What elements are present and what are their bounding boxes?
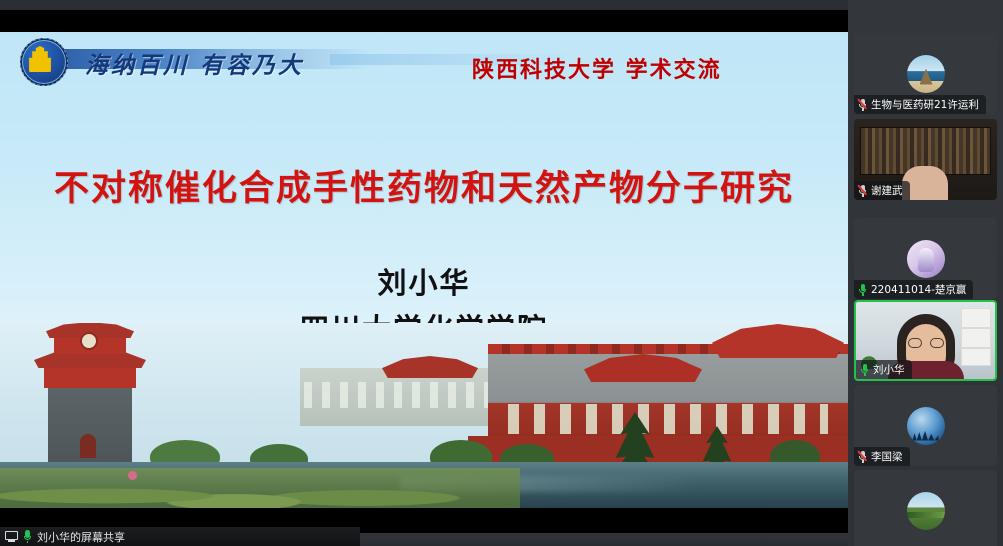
slide-main-title: 不对称催化合成手性药物和天然产物分子研究 [0, 160, 848, 211]
slide-header-band: 海纳百川 有容乃大 陕西科技大学 学术交流 [0, 32, 848, 94]
participant-tile[interactable]: 220411014-楚京赢 [854, 218, 997, 299]
mic-on-icon [861, 364, 869, 376]
participant-nametag: 刘小华 [856, 360, 912, 379]
participant-nametag: 谢建武 [854, 181, 910, 200]
participant-name: 刘小华 [873, 362, 905, 377]
participant-nametag: 李国梁 [854, 447, 910, 466]
mic-muted-icon [859, 451, 867, 463]
event-title: 陕西科技大学 学术交流 [472, 52, 722, 84]
share-top-letterbox [0, 10, 848, 32]
participant-name: 生物与医药研21许运利 [871, 97, 979, 112]
participant-name: 220411014-楚京赢 [871, 282, 966, 297]
avatar [907, 407, 945, 445]
presentation-slide: 海纳百川 有容乃大 陕西科技大学 学术交流 不对称催化合成手性药物和天然产物分子… [0, 32, 848, 508]
participant-name: 李国梁 [871, 449, 903, 464]
participant-tile[interactable]: 李国梁 [854, 385, 997, 466]
mic-muted-icon [859, 99, 867, 111]
participant-name: 谢建武 [871, 183, 903, 198]
avatar [907, 55, 945, 93]
campus-photo [0, 323, 848, 508]
mic-on-icon [23, 530, 32, 543]
avatar [907, 240, 945, 278]
participant-tile-active-speaker[interactable]: 刘小华 [854, 300, 997, 381]
participant-nametag: 生物与医药研21许运利 [854, 95, 986, 114]
zoom-meeting-window: 海纳百川 有容乃大 陕西科技大学 学术交流 不对称催化合成手性药物和天然产物分子… [0, 0, 1003, 546]
mic-muted-icon [859, 185, 867, 197]
screen-share-label: 刘小华的屏幕共享 [37, 529, 125, 545]
window-top-strip [0, 0, 848, 10]
participant-nametag: 220411014-楚京赢 [854, 280, 973, 299]
shared-screen-area[interactable]: 海纳百川 有容乃大 陕西科技大学 学术交流 不对称催化合成手性药物和天然产物分子… [0, 32, 848, 508]
slide-presenter-name: 刘小华 [0, 260, 848, 302]
participant-video-panel[interactable]: 生物与医药研21许运利 谢建武 220411014-楚京赢 [848, 0, 1003, 546]
university-emblem-icon [14, 38, 74, 88]
screen-share-indicator[interactable]: 刘小华的屏幕共享 [0, 527, 360, 546]
screen-share-icon [5, 531, 18, 542]
participant-tile[interactable]: 谢建武 [854, 119, 997, 200]
university-motto: 海纳百川 有容乃大 [85, 46, 304, 80]
participant-tile[interactable]: 生物与医药研21许运利 [854, 33, 997, 114]
participant-tile[interactable] [854, 470, 997, 546]
mic-on-icon [859, 284, 867, 296]
avatar [907, 492, 945, 530]
